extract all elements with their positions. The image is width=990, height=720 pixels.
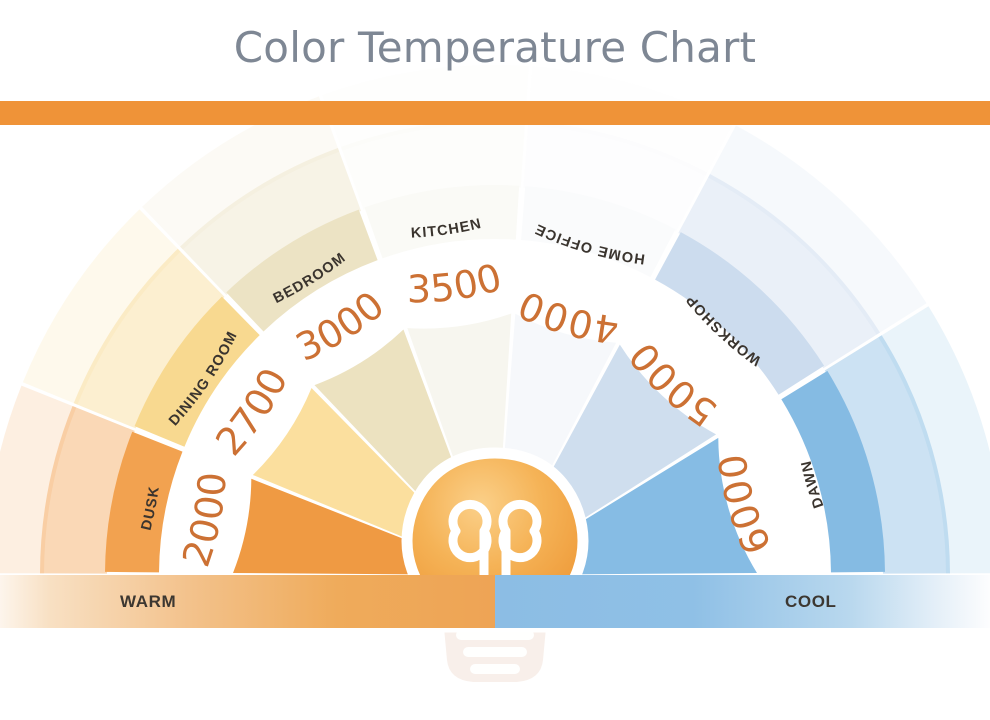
warm-half: WARM [0, 575, 495, 628]
page-title: Color Temperature Chart [234, 23, 756, 72]
bulb-base-rib [463, 647, 527, 657]
title-area: Color Temperature Chart [0, 0, 990, 95]
top-accent-bar [0, 101, 990, 125]
infographic-canvas: Color Temperature Chart 2000DUSK2700DINI… [0, 0, 990, 720]
bulb-base-rib [470, 664, 520, 674]
lightbulb-icon [407, 453, 583, 682]
warm-label: WARM [120, 592, 176, 612]
cool-label: COOL [785, 592, 837, 612]
warm-cool-scale-bar: WARM COOL [0, 575, 990, 628]
cool-half: COOL [495, 575, 990, 628]
